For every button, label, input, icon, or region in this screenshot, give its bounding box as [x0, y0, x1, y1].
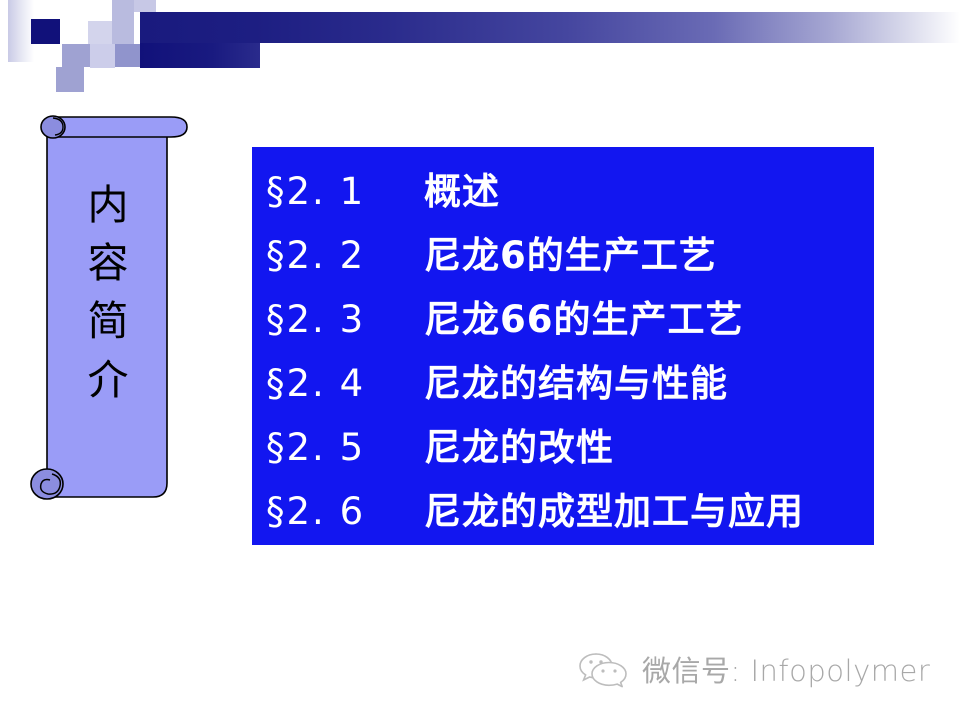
- toc-item-6: §2. 6 尼龙的成型加工与应用: [266, 481, 874, 545]
- toc-item-2: §2. 2 尼龙6的生产工艺: [266, 225, 874, 289]
- header-square-medium: [62, 44, 90, 67]
- table-of-contents-box: §2. 1 概述 §2. 2 尼龙6的生产工艺 §2. 3 尼龙66的生产工艺 …: [252, 147, 874, 545]
- toc-item-5-label: 尼龙的改性: [424, 417, 614, 471]
- toc-item-5: §2. 5 尼龙的改性: [266, 417, 874, 481]
- header-accent-square: [31, 19, 60, 44]
- scroll-top-curl: [41, 116, 65, 138]
- scroll-top-roll: [52, 117, 187, 137]
- toc-item-1: §2. 1 概述: [266, 161, 874, 225]
- header-square-bottom: [56, 67, 84, 92]
- header-square-light-tall: [112, 0, 134, 44]
- header-square-pale: [88, 21, 112, 44]
- toc-item-6-label: 尼龙的成型加工与应用: [424, 481, 804, 535]
- toc-item-3: §2. 3 尼龙66的生产工艺: [266, 289, 874, 353]
- wechat-watermark: 微信号: Infopolymer: [578, 648, 930, 690]
- toc-item-1-number: §2. 1: [266, 170, 424, 213]
- toc-item-4-number: §2. 4: [266, 362, 424, 405]
- header-bar-lower: [140, 43, 260, 68]
- header-square-light-small: [134, 0, 156, 12]
- header-square-medium-right: [115, 44, 140, 67]
- toc-item-2-label: 尼龙6的生产工艺: [424, 225, 717, 279]
- toc-item-6-number: §2. 6: [266, 490, 424, 533]
- toc-item-4-label: 尼龙的结构与性能: [424, 353, 728, 407]
- header-bar-main: [140, 12, 960, 43]
- wechat-icon: [578, 650, 630, 688]
- scroll-title-char-3: 简: [78, 292, 138, 350]
- scroll-title-char-4: 介: [78, 351, 138, 409]
- scroll-title-char-2: 容: [78, 234, 138, 292]
- toc-item-1-label: 概述: [424, 161, 500, 215]
- toc-item-2-number: §2. 2: [266, 234, 424, 277]
- watermark-text: 微信号: Infopolymer: [642, 648, 930, 690]
- scroll-title: 内 容 简 介: [78, 176, 138, 409]
- decorative-header-banner: [0, 0, 960, 72]
- toc-item-3-label: 尼龙66的生产工艺: [424, 289, 744, 343]
- toc-item-3-number: §2. 3: [266, 298, 424, 341]
- toc-item-5-number: §2. 5: [266, 426, 424, 469]
- scroll-title-char-1: 内: [78, 176, 138, 234]
- header-square-pale-lower: [90, 44, 115, 68]
- toc-item-4: §2. 4 尼龙的结构与性能: [266, 353, 874, 417]
